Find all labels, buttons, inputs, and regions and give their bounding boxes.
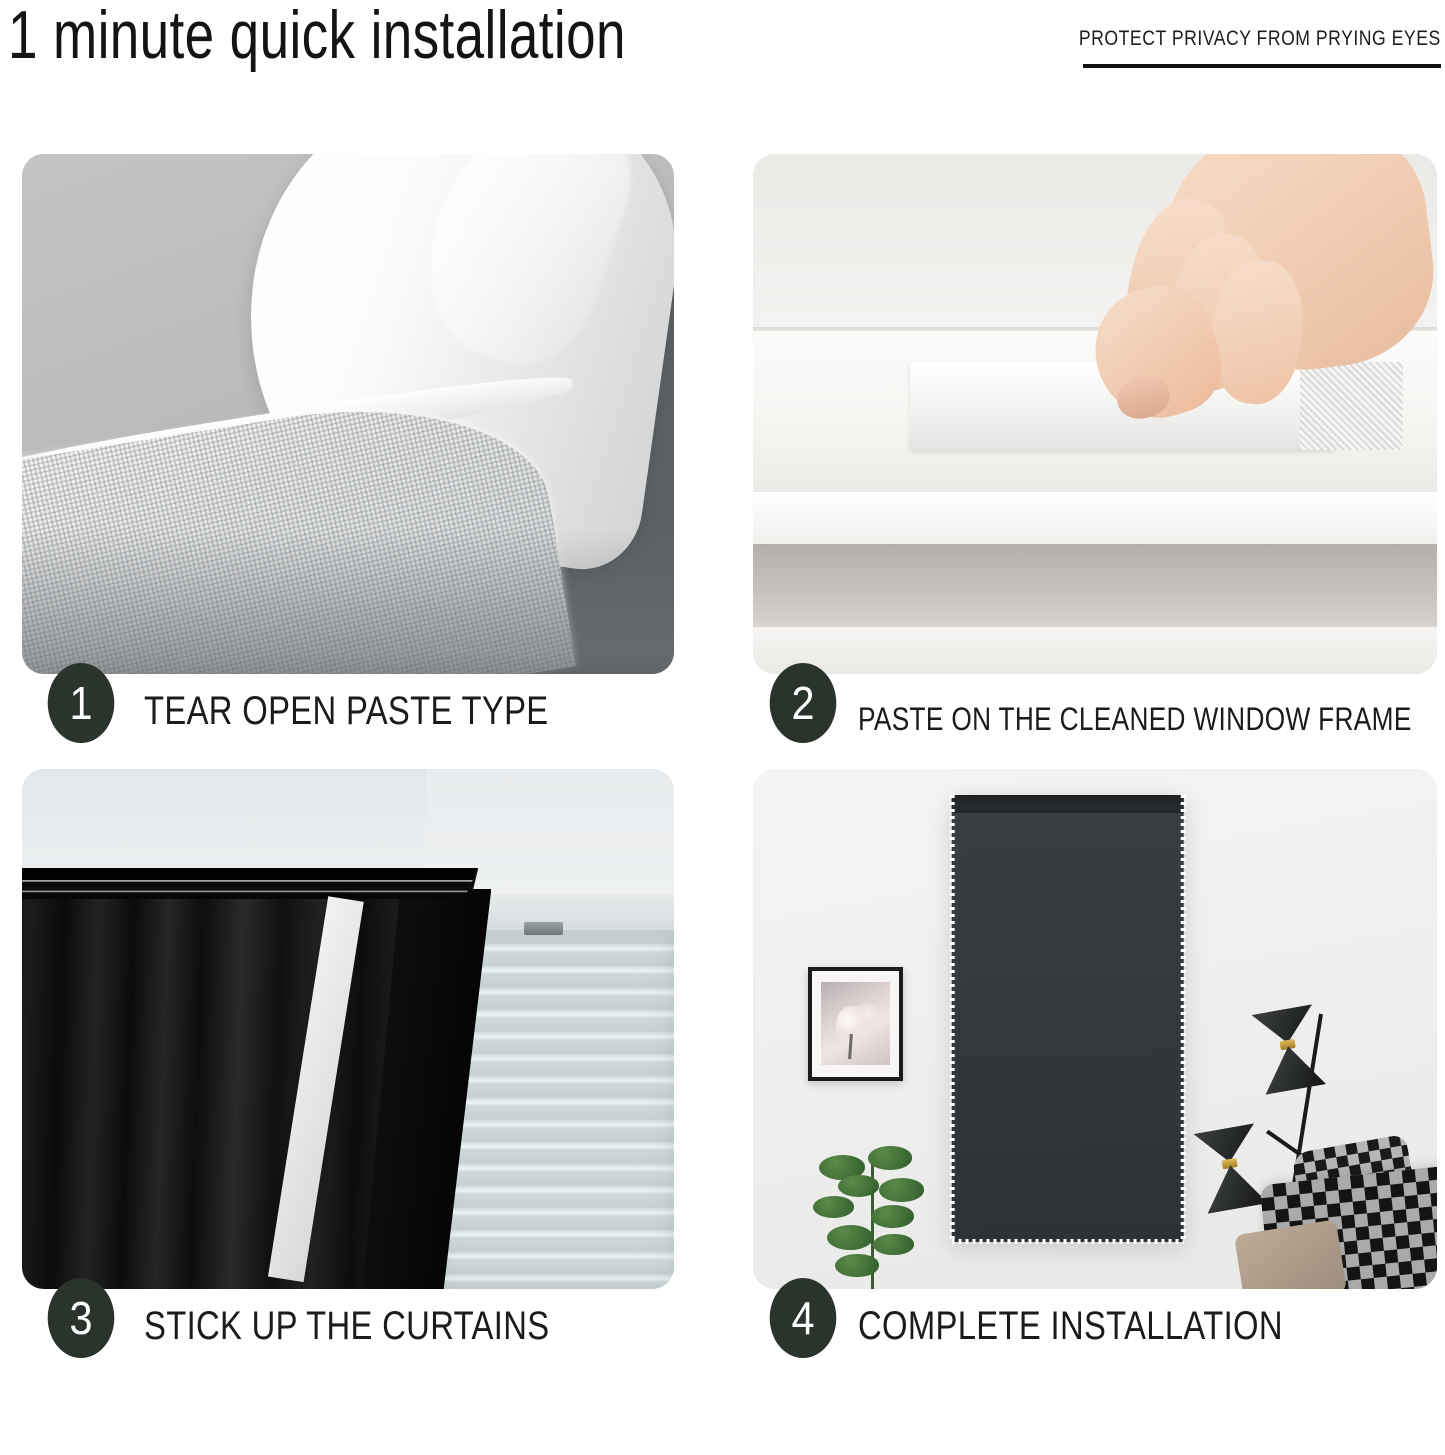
step-number-badge: 1	[48, 663, 115, 743]
step-card-3: 3 STICK UP THE CURTAINS	[14, 758, 674, 1370]
curtain-velcro-scene	[22, 769, 674, 1289]
hand-pressing-tape-scene	[753, 154, 1437, 674]
step-number-badge: 4	[770, 1278, 837, 1358]
plant-leaf	[879, 1178, 924, 1201]
plant-leaf	[838, 1175, 879, 1197]
plant-leaf	[873, 1234, 914, 1256]
step-1-photo	[22, 154, 674, 674]
plant-leaf	[835, 1254, 879, 1277]
shade-cone-down	[1200, 1160, 1268, 1214]
lamp-shade-lower	[1194, 1123, 1269, 1214]
step-2-photo	[753, 154, 1437, 674]
plant-leaf	[813, 1196, 854, 1218]
installed-blackout-blind	[951, 795, 1184, 1242]
step-3-photo	[22, 769, 674, 1289]
infographic-page: 1 minute quick installation PROTECT PRIV…	[0, 0, 1445, 1455]
velcro-closeup-scene	[22, 154, 674, 674]
window-sill	[753, 492, 1437, 549]
step-number-badge: 2	[770, 663, 837, 743]
strip-highlight	[403, 154, 647, 382]
art-image	[821, 982, 889, 1065]
plant-leaf	[871, 1205, 915, 1228]
art-mat	[812, 971, 900, 1077]
blind-bottom-edge	[951, 1239, 1184, 1244]
step-3-caption-row: 3 STICK UP THE CURTAINS	[14, 1278, 674, 1370]
step-1-caption-row: 1 TEAR OPEN PASTE TYPE	[14, 663, 674, 755]
tagline-text: PROTECT PRIVACY FROM PRYING EYES	[1079, 26, 1441, 51]
bottom-shadow	[22, 528, 674, 674]
blind-left-edge	[949, 795, 954, 1242]
step-caption: STICK UP THE CURTAINS	[144, 1302, 549, 1350]
plant-leaf	[827, 1225, 874, 1250]
step-4-photo	[753, 769, 1437, 1289]
page-title: 1 minute quick installation	[8, 0, 626, 74]
steps-grid: 1 TEAR OPEN PASTE TYPE	[0, 143, 1445, 1443]
step-4-caption-row: 4 COMPLETE INSTALLATION	[748, 1278, 1408, 1370]
flower-shape-secondary	[857, 999, 879, 1027]
step-caption: COMPLETE INSTALLATION	[858, 1302, 1283, 1350]
step-caption: TEAR OPEN PASTE TYPE	[144, 687, 549, 735]
blind-top-bar	[951, 795, 1184, 813]
tagline-block: PROTECT PRIVACY FROM PRYING EYES	[1010, 26, 1441, 68]
finished-room-scene	[753, 769, 1437, 1289]
header: 1 minute quick installation PROTECT PRIV…	[0, 0, 1445, 140]
shade-cone-down	[1258, 1041, 1326, 1095]
step-caption: PASTE ON THE CLEANED WINDOW FRAME	[858, 695, 1412, 743]
step-card-4: 4 COMPLETE INSTALLATION	[748, 758, 1408, 1370]
hand	[1074, 154, 1430, 466]
potted-plant	[808, 1143, 945, 1289]
blind-bracket	[524, 922, 563, 934]
framed-artwork	[808, 967, 904, 1081]
lower-wall-shadow	[753, 544, 1437, 638]
lamp-shade-upper	[1251, 1004, 1326, 1095]
step-2-caption-row: 2 PASTE ON THE CLEANED WINDOW FRAME	[748, 663, 1408, 755]
step-number-badge: 3	[48, 1278, 115, 1358]
plant-leaf	[868, 1146, 912, 1169]
tagline-underline	[1083, 64, 1441, 68]
step-card-1: 1 TEAR OPEN PASTE TYPE	[14, 143, 674, 755]
blind-right-edge	[1181, 795, 1186, 1242]
step-card-2: 2 PASTE ON THE CLEANED WINDOW FRAME	[748, 143, 1408, 755]
curtain-top-hem	[22, 868, 478, 899]
